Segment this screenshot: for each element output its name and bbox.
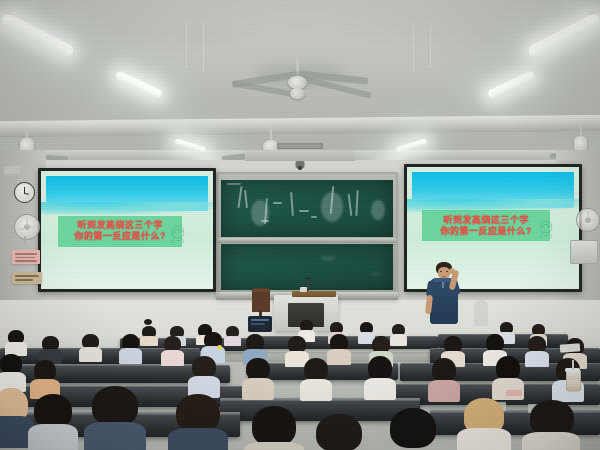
student [192, 356, 216, 394]
slide-line-1: 听到发高烧这三个字 [77, 221, 163, 230]
student [142, 322, 154, 338]
blackboard-panel-top [221, 180, 393, 237]
slide-line-2: 你的第一反应是什么? [74, 232, 166, 241]
notice-sign-tan[interactable] [12, 272, 42, 284]
student [8, 330, 24, 354]
student [226, 326, 239, 344]
lecturer-mouth [442, 276, 446, 277]
podium-desktop [292, 291, 336, 297]
desk-row [430, 410, 600, 435]
light-hanger-rod [413, 22, 414, 72]
student [0, 388, 28, 446]
podium-item [300, 287, 307, 292]
camera-lens-icon [298, 166, 303, 170]
student [530, 400, 574, 450]
av-equipment-box[interactable] [248, 316, 272, 332]
microphone-stand [307, 279, 309, 291]
student [528, 336, 546, 364]
slide-textbox-right: 听到发高烧这三个字 你的第一反应是什么? [422, 210, 549, 242]
light-hanger-rod [34, 0, 35, 14]
light-hanger-rod [566, 0, 567, 14]
lecture-hall-photo: 听到发高烧这三个字 你的第一反应是什么? 听到发高烧这三个字 你的第一反应是什么… [0, 0, 600, 450]
student [368, 356, 392, 396]
ceiling-mount-plate [277, 143, 323, 149]
desk-edge [430, 410, 600, 413]
slide-left: 听到发高烧这三个字 你的第一反应是什么? [41, 171, 213, 289]
student [316, 414, 362, 450]
drink-cup[interactable] [566, 370, 581, 392]
ceiling-fan-rod [270, 126, 272, 140]
student [122, 334, 139, 361]
student [252, 406, 296, 450]
student [92, 386, 138, 450]
screen-housing [245, 150, 355, 161]
light-hanger-rod [430, 20, 431, 68]
student [392, 324, 405, 344]
student [390, 408, 436, 450]
student [42, 336, 59, 362]
chair-backrest [253, 289, 269, 292]
wall-clock [14, 182, 35, 203]
notebook [560, 343, 581, 352]
projection-screen-left: 听到发高烧这三个字 你的第一反应是什么? [38, 168, 216, 292]
student [0, 354, 22, 388]
slide-doodle-icon [533, 216, 559, 242]
student [330, 334, 348, 362]
student [464, 398, 504, 450]
desk-row [258, 336, 438, 349]
paper-sheet [506, 390, 522, 396]
ceiling-fan-rod [26, 126, 28, 138]
lecturer-hand [449, 268, 455, 274]
wall-fan-mount [18, 244, 32, 249]
wall-fan-left [14, 214, 40, 240]
notice-sign-pink[interactable] [12, 250, 40, 264]
wall-fan-right [576, 208, 600, 232]
student [34, 394, 72, 450]
background-figure [474, 300, 488, 326]
slide-line-2: 你的第一反应是什么? [440, 227, 532, 236]
slide-doodle-icon [165, 221, 191, 247]
wall-cabinet-right [570, 240, 598, 264]
slide-textbox-left: 听到发高烧这三个字 你的第一反应是什么? [58, 216, 182, 247]
lecturer [420, 262, 470, 332]
ceiling-fan-light [290, 88, 305, 99]
microphone-icon [305, 277, 310, 280]
student [432, 358, 456, 398]
light-hanger-rod [203, 22, 204, 72]
student [34, 360, 56, 396]
light-hanger-rod [186, 20, 187, 68]
student [164, 336, 181, 363]
student [304, 358, 328, 396]
blackboard-divider [218, 238, 396, 243]
student [176, 394, 220, 450]
student [82, 334, 99, 360]
ceiling-stain [180, 30, 240, 44]
student [246, 358, 270, 396]
drink-straw [572, 360, 574, 370]
slide-line-1: 听到发高烧这三个字 [443, 216, 529, 225]
